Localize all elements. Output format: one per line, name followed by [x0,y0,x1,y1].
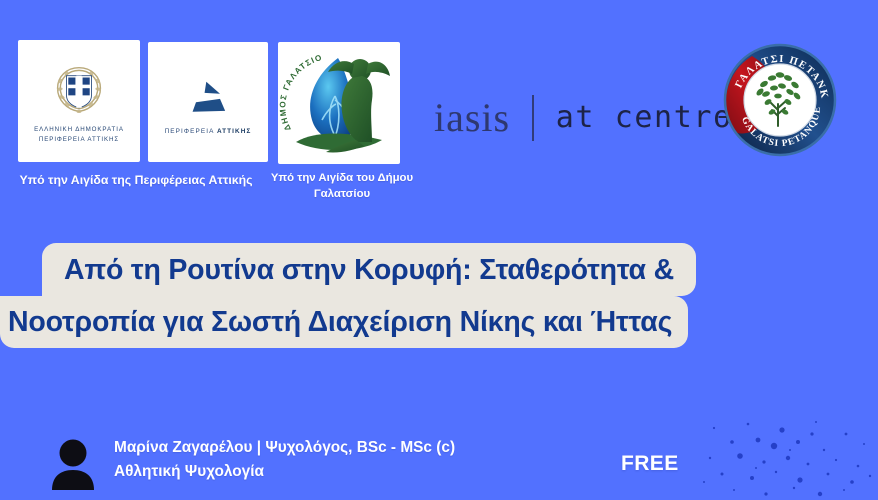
galatsi-athlete-leaf-icon: ΔΗΜΟΣ ΓΑΛΑΤΣΙΟΥ [278,42,400,164]
person-silhouette-icon [50,438,96,490]
title-banner: Από τη Ρουτίνα στην Κορυφή: Σταθερότητα … [0,243,878,348]
title-line-1: Από τη Ρουτίνα στην Κορυφή: Σταθερότητα … [42,243,696,296]
iasis-divider-rule [532,95,534,141]
hellenic-line-2: ΠΕΡΙΦΕΡΕΙΑ ΑΤΤΙΚΗΣ [34,135,124,145]
attica-caption-light: ΠΕΡΙΦΕΡΕΙΑ [165,128,217,135]
logo-card-galatsi-municipality: ΔΗΜΟΣ ΓΑΛΑΤΣΙΟΥ [278,42,400,164]
title-line-2: Νοοτροπία για Σωστή Διαχείριση Νίκης και… [0,296,688,348]
speaker-text-block: Μαρίνα Ζαγαρέλου | Ψυχολόγος, BSc - MSc … [114,436,455,484]
logo-card-attica-region: ΠΕΡΙΦΕΡΕΙΑ ΑΤΤΙΚΗΣ [148,42,268,162]
aegis-caption-attica: Υπό την Αιγίδα της Περιφέρειας Αττικής [8,172,264,189]
at-centro-text: at centr [556,103,713,133]
iasis-at-centro-wordmark: iasis at centro [434,92,733,144]
speaker-specialty: Αθλητική Ψυχολογία [114,460,455,484]
at-centro-word: at centro [556,103,733,133]
logo-card-hellenic-republic: ΕΛΛΗΝΙΚΗ ΔΗΜΟΚΡΑΤΙΑ ΠΕΡΙΦΕΡΕΙΑ ΑΤΤΙΚΗΣ [18,40,140,162]
sponsor-logo-strip: ΕΛΛΗΝΙΚΗ ΔΗΜΟΚΡΑΤΙΑ ΠΕΡΙΦΕΡΕΙΑ ΑΤΤΙΚΗΣ Π… [0,0,878,225]
attica-mountain-mark-icon [182,80,234,116]
hellenic-line-1: ΕΛΛΗΝΙΚΗ ΔΗΜΟΚΡΑΤΙΑ [34,125,124,135]
scattered-dots-decoration [696,416,878,500]
event-poster: ΕΛΛΗΝΙΚΗ ΔΗΜΟΚΡΑΤΙΑ ΠΕΡΙΦΕΡΕΙΑ ΑΤΤΙΚΗΣ Π… [0,0,878,500]
speaker-name-credentials: Μαρίνα Ζαγαρέλου | Ψυχολόγος, BSc - MSc … [114,436,455,460]
attica-region-caption: ΠΕΡΙΦΕΡΕΙΑ ΑΤΤΙΚΗΣ [165,128,252,135]
galatsi-petanque-badge-icon: ΓΑΛΑΤΣΙ ΠΕΤΑΝΚ GALATSI PETANQUE [722,42,838,158]
attica-caption-bold: ΑΤΤΙΚΗΣ [217,128,251,135]
greek-coat-of-arms-icon [52,65,106,115]
hellenic-republic-caption: ΕΛΛΗΝΙΚΗ ΔΗΜΟΚΡΑΤΙΑ ΠΕΡΙΦΕΡΕΙΑ ΑΤΤΙΚΗΣ [34,125,124,144]
free-badge: FREE [621,452,679,476]
aegis-caption-galatsi: Υπό την Αιγίδα του Δήμου Γαλατσίου [268,170,416,202]
speaker-info: Μαρίνα Ζαγαρέλου | Ψυχολόγος, BSc - MSc … [50,436,455,490]
iasis-word: iasis [434,98,510,138]
